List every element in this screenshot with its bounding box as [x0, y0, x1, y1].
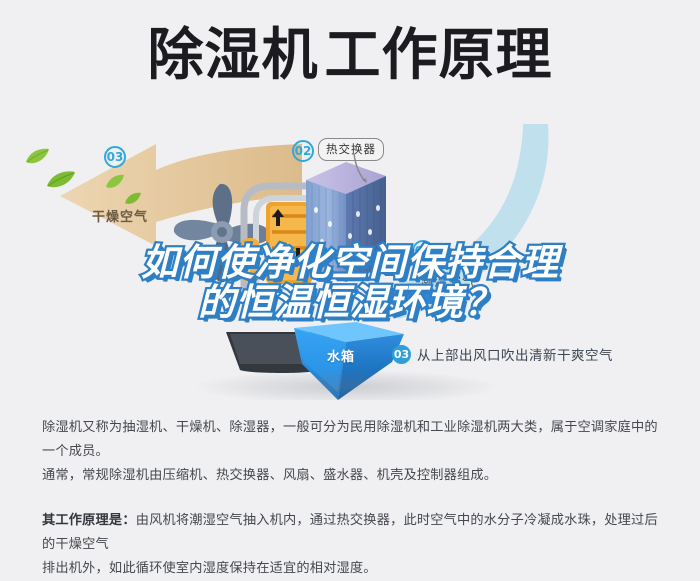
leaf-icon — [105, 174, 125, 190]
badge-step-03-top: 03 — [104, 146, 126, 168]
badge-annotation-03: 03 — [392, 345, 411, 364]
water-tank-label: 水箱 — [327, 346, 355, 365]
headline-line-1: 如何使净化空间保持合理 — [0, 243, 700, 283]
callout-tail-icon — [352, 154, 370, 184]
annotation-row-03: 03 从上部出风口吹出清新干爽空气 — [392, 344, 613, 364]
leaf-icon — [124, 192, 142, 206]
badge-step-02: 02 — [292, 140, 314, 162]
headline-line-2: 的恒温恒湿环境？ — [0, 283, 700, 323]
leaf-icon — [24, 148, 50, 166]
leaf-icon — [46, 170, 76, 190]
page-title: 除湿机工作原理 — [0, 28, 700, 84]
body-copy: 除湿机又称为抽湿机、干燥机、除湿器，一般可分为民用除湿机和工业除湿机两大类，属于… — [42, 416, 662, 581]
heat-exchanger-callout: 热交换器 — [318, 138, 384, 161]
paragraph-1: 除湿机又称为抽湿机、干燥机、除湿器，一般可分为民用除湿机和工业除湿机两大类，属于… — [42, 416, 662, 488]
dehumidifier-infographic-page: 除湿机工作原理 干燥空气 潮湿空气 — [0, 0, 700, 566]
headline-overlay: 如何使净化空间保持合理 的恒温恒湿环境？ — [0, 243, 700, 323]
annotation-text-03: 从上部出风口吹出清新干爽空气 — [417, 344, 613, 364]
header: 除湿机工作原理 — [0, 0, 700, 120]
paragraph-1-line-2: 通常，常规除湿机由压缩机、热交换器、风扇、盛水器、机壳及控制器组成。 — [42, 468, 497, 483]
paragraph-2-line-2: 排出机外，如此循环使室内湿度保持在适宜的相对湿度。 — [42, 561, 377, 576]
dry-air-label: 干燥空气 — [92, 206, 148, 225]
machine-shadow — [196, 370, 496, 400]
page-title-part1: 除湿机 — [148, 23, 319, 88]
paragraph-1-line-1: 除湿机又称为抽湿机、干燥机、除湿器，一般可分为民用除湿机和工业除湿机两大类，属于… — [42, 420, 658, 459]
page-title-part2: 工作原理 — [325, 23, 553, 88]
paragraph-2-label: 其工作原理是： — [42, 513, 136, 528]
paragraph-2: 其工作原理是：由风机将潮湿空气抽入机内，通过热交换器，此时空气中的水分子冷凝成水… — [42, 509, 662, 581]
